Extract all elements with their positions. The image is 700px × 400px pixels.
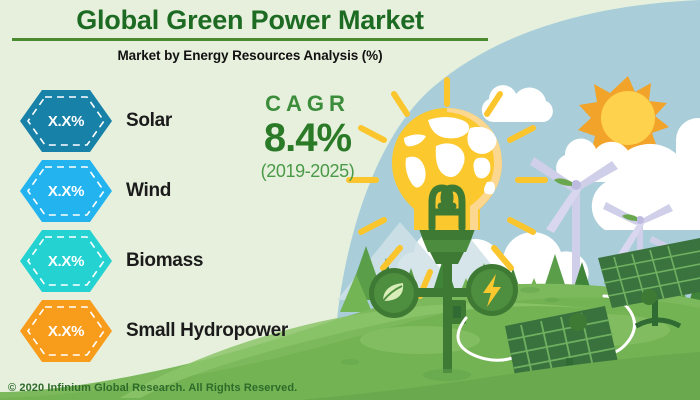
- hexagon-badge: X.X%: [18, 227, 114, 295]
- cagr-label: CAGR: [225, 92, 390, 116]
- page-title: Global Green Power Market: [12, 4, 488, 41]
- legend-label: Small Hydropower: [126, 320, 288, 342]
- infographic-canvas: Global Green Power Market Market by Ener…: [0, 0, 700, 400]
- hill-highlight: [360, 326, 480, 354]
- legend-value: X.X%: [18, 297, 114, 365]
- hexagon-badge: X.X%: [18, 157, 114, 225]
- leaf-badge-icon: [369, 268, 419, 318]
- lightning-badge-icon: [466, 264, 518, 316]
- page-subtitle: Market by Energy Resources Analysis (%): [0, 48, 500, 63]
- cagr-block: CAGR 8.4% (2019-2025): [225, 92, 390, 182]
- legend-value: X.X%: [18, 87, 114, 155]
- legend-value: X.X%: [18, 227, 114, 295]
- copyright-footer: © 2020 Infinium Global Research. All Rig…: [8, 382, 297, 394]
- header: Global Green Power Market Market by Ener…: [0, 4, 500, 63]
- legend-label: Solar: [126, 110, 172, 132]
- cagr-value: 8.4%: [225, 117, 390, 159]
- legend-label: Wind: [126, 180, 171, 202]
- hexagon-badge: X.X%: [18, 87, 114, 155]
- hexagon-badge: X.X%: [18, 297, 114, 365]
- legend-label: Biomass: [126, 250, 203, 272]
- legend-item-small-hydropower[interactable]: X.X% Small Hydropower: [18, 296, 288, 366]
- legend-item-biomass[interactable]: X.X% Biomass: [18, 226, 288, 296]
- legend-value: X.X%: [18, 157, 114, 225]
- cagr-period: (2019-2025): [225, 160, 390, 182]
